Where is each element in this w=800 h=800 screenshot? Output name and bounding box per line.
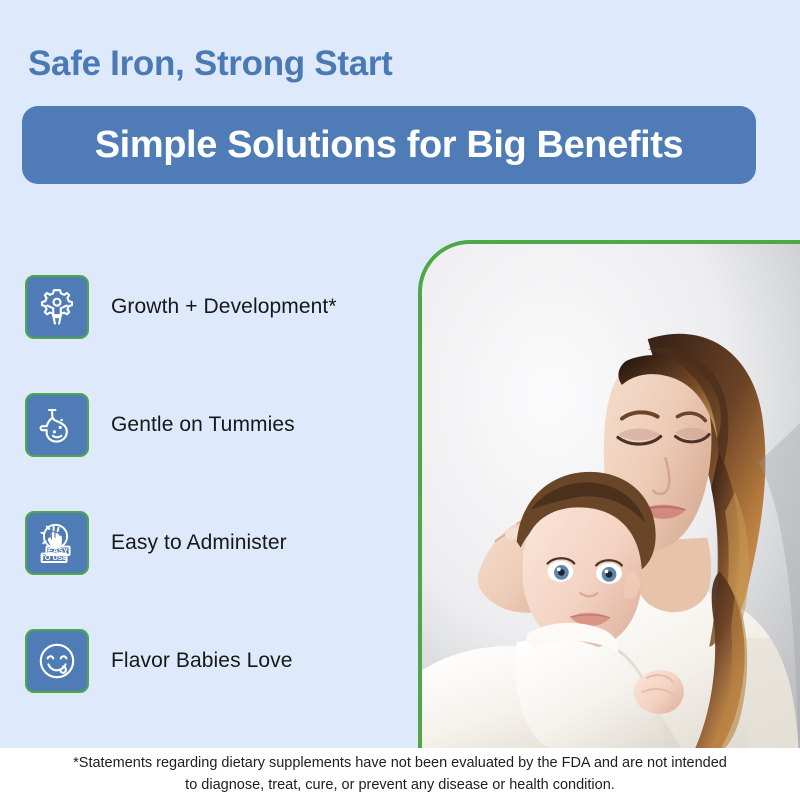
icon-text-to-use: TO USE [40,553,67,562]
disclaimer-line-1: *Statements regarding dietary supplement… [73,752,727,774]
headline-banner: Simple Solutions for Big Benefits [22,106,756,184]
feature-label: Easy to Administer [111,531,287,555]
feature-item-growth-development: Growth + Development* [25,275,415,339]
stomach-icon [25,393,89,457]
easy-to-use-hand-icon: EASY TO USE [25,511,89,575]
feature-label: Growth + Development* [111,295,337,319]
feature-item-easy-to-administer: EASY TO USE Easy to Administer [25,511,415,575]
feature-list: Growth + Development* Gentle on Tummies [25,275,415,747]
gear-person-icon [25,275,89,339]
banner-text: Simple Solutions for Big Benefits [95,126,684,164]
mother-and-baby-photo [418,240,800,748]
feature-item-gentle-on-tummies: Gentle on Tummies [25,393,415,457]
page-title: Safe Iron, Strong Start [28,44,393,84]
infographic-page: Safe Iron, Strong Start Simple Solutions… [0,0,800,800]
feature-label: Gentle on Tummies [111,413,295,437]
smiley-tongue-icon [25,629,89,693]
feature-item-flavor-babies-love: Flavor Babies Love [25,629,415,693]
feature-label: Flavor Babies Love [111,649,293,673]
disclaimer-footer: *Statements regarding dietary supplement… [0,748,800,800]
disclaimer-line-2: to diagnose, treat, cure, or prevent any… [185,774,615,796]
